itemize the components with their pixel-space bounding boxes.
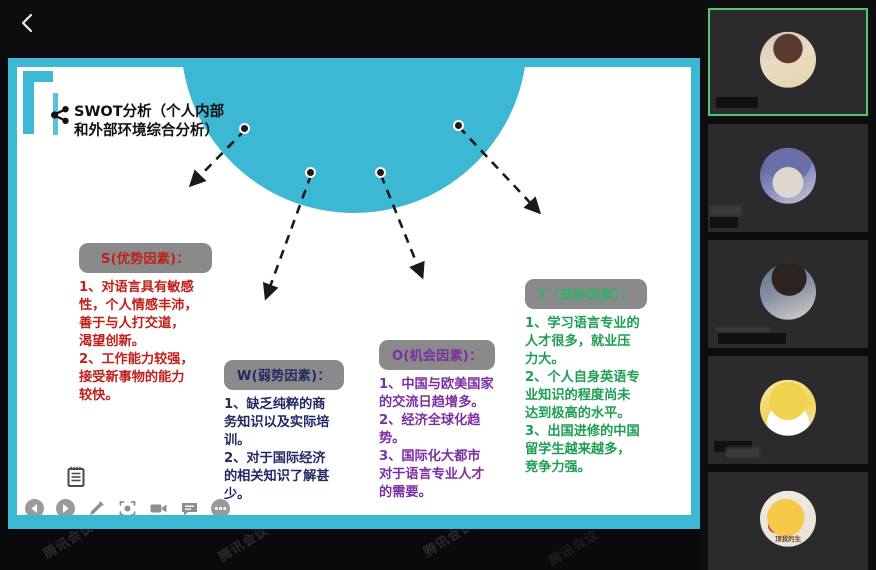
swot-card-weaknesses: W(弱势因素)： 1、缺乏纯粹的商 务知识以及实际培 训。 2、对于国际经济 的… bbox=[224, 360, 354, 504]
swot-card-body: 1、缺乏纯粹的商 务知识以及实际培 训。 2、对于国际经济 的相关知识了解甚 少… bbox=[224, 396, 354, 504]
swot-card-opportunities: O(机会因素)： 1、中国与欧美国家 的交流日趋增多。 2、经济全球化趋 势。 … bbox=[379, 340, 511, 502]
slide-frame: SWOT分析（个人内部 和外部环境综合分析） bbox=[8, 58, 700, 529]
back-button[interactable] bbox=[10, 6, 44, 40]
slide-toolbar bbox=[25, 499, 230, 515]
connector-dot bbox=[453, 120, 464, 131]
connector-dot bbox=[239, 123, 250, 134]
swot-card-body: 1、学习语言专业的 人才很多，就业压 力大。 2、个人自身英语专 业知识的程度尚… bbox=[525, 315, 675, 477]
notepad-icon[interactable] bbox=[67, 466, 85, 487]
swot-card-body: 1、对语言具有敏感 性，个人情感丰沛， 善于与人打交道， 渴望创新。 2、工作能… bbox=[79, 279, 229, 405]
participant-tile[interactable] bbox=[708, 124, 868, 232]
swot-card-header: T（威胁因素）： bbox=[525, 279, 647, 309]
swot-card-threats: T（威胁因素）： 1、学习语言专业的 人才很多，就业压 力大。 2、个人自身英语… bbox=[525, 279, 675, 477]
swot-card-header: S(优势因素)： bbox=[79, 243, 212, 273]
page-title: SWOT分析（个人内部 和外部环境综合分析） bbox=[74, 103, 224, 140]
participant-name-redacted bbox=[716, 97, 758, 108]
pencil-annotate-icon[interactable] bbox=[87, 499, 106, 515]
more-icon[interactable] bbox=[211, 499, 230, 515]
top-bar bbox=[0, 0, 700, 55]
participant-rail[interactable]: 顶我的生 bbox=[700, 0, 876, 570]
previous-slide-icon[interactable] bbox=[25, 499, 44, 515]
connector-dot bbox=[375, 167, 386, 178]
watermark: 腾讯会议 bbox=[544, 524, 602, 570]
avatar bbox=[760, 380, 816, 436]
participant-tile[interactable]: 顶我的生 bbox=[708, 472, 868, 570]
accent-bar-horizontal bbox=[23, 71, 53, 82]
laser-pointer-icon[interactable] bbox=[118, 499, 137, 515]
participant-name-redacted bbox=[726, 447, 760, 458]
connector-dot bbox=[305, 167, 316, 178]
avatar bbox=[760, 32, 816, 88]
avatar bbox=[760, 264, 816, 320]
swot-card-header: O(机会因素)： bbox=[379, 340, 495, 370]
swot-card-header: W(弱势因素)： bbox=[224, 360, 344, 390]
swot-card-strengths: S(优势因素)： 1、对语言具有敏感 性，个人情感丰沛， 善于与人打交道， 渴望… bbox=[79, 243, 229, 405]
chat-icon[interactable] bbox=[180, 499, 199, 515]
chevron-left-icon bbox=[19, 12, 35, 34]
participant-tile[interactable] bbox=[708, 356, 868, 464]
participant-name-redacted bbox=[718, 333, 786, 344]
next-slide-icon[interactable] bbox=[56, 499, 75, 515]
camera-icon[interactable] bbox=[149, 499, 168, 515]
participant-name-redacted bbox=[710, 205, 742, 216]
meeting-screen-share-view: 腾讯会议 腾讯会议 腾讯会议 腾讯会议 腾讯会议 腾讯会议 腾讯会议 腾讯会议 … bbox=[0, 0, 876, 570]
avatar: 顶我的生 bbox=[760, 491, 816, 547]
participant-tile[interactable] bbox=[708, 8, 868, 116]
avatar-caption: 顶我的生 bbox=[760, 533, 816, 543]
avatar bbox=[760, 148, 816, 204]
shared-content-stage[interactable]: SWOT分析（个人内部 和外部环境综合分析） bbox=[8, 58, 700, 529]
participant-name-redacted bbox=[710, 217, 738, 228]
participant-tile[interactable] bbox=[708, 240, 868, 348]
share-nodes-icon bbox=[51, 106, 70, 124]
slide-canvas: SWOT分析（个人内部 和外部环境综合分析） bbox=[17, 67, 691, 515]
swot-card-body: 1、中国与欧美国家 的交流日趋增多。 2、经济全球化趋 势。 3、国际化大都市 … bbox=[379, 376, 511, 502]
slide-title-group: SWOT分析（个人内部 和外部环境综合分析） bbox=[51, 103, 351, 140]
participant-name-redacted bbox=[716, 327, 770, 332]
